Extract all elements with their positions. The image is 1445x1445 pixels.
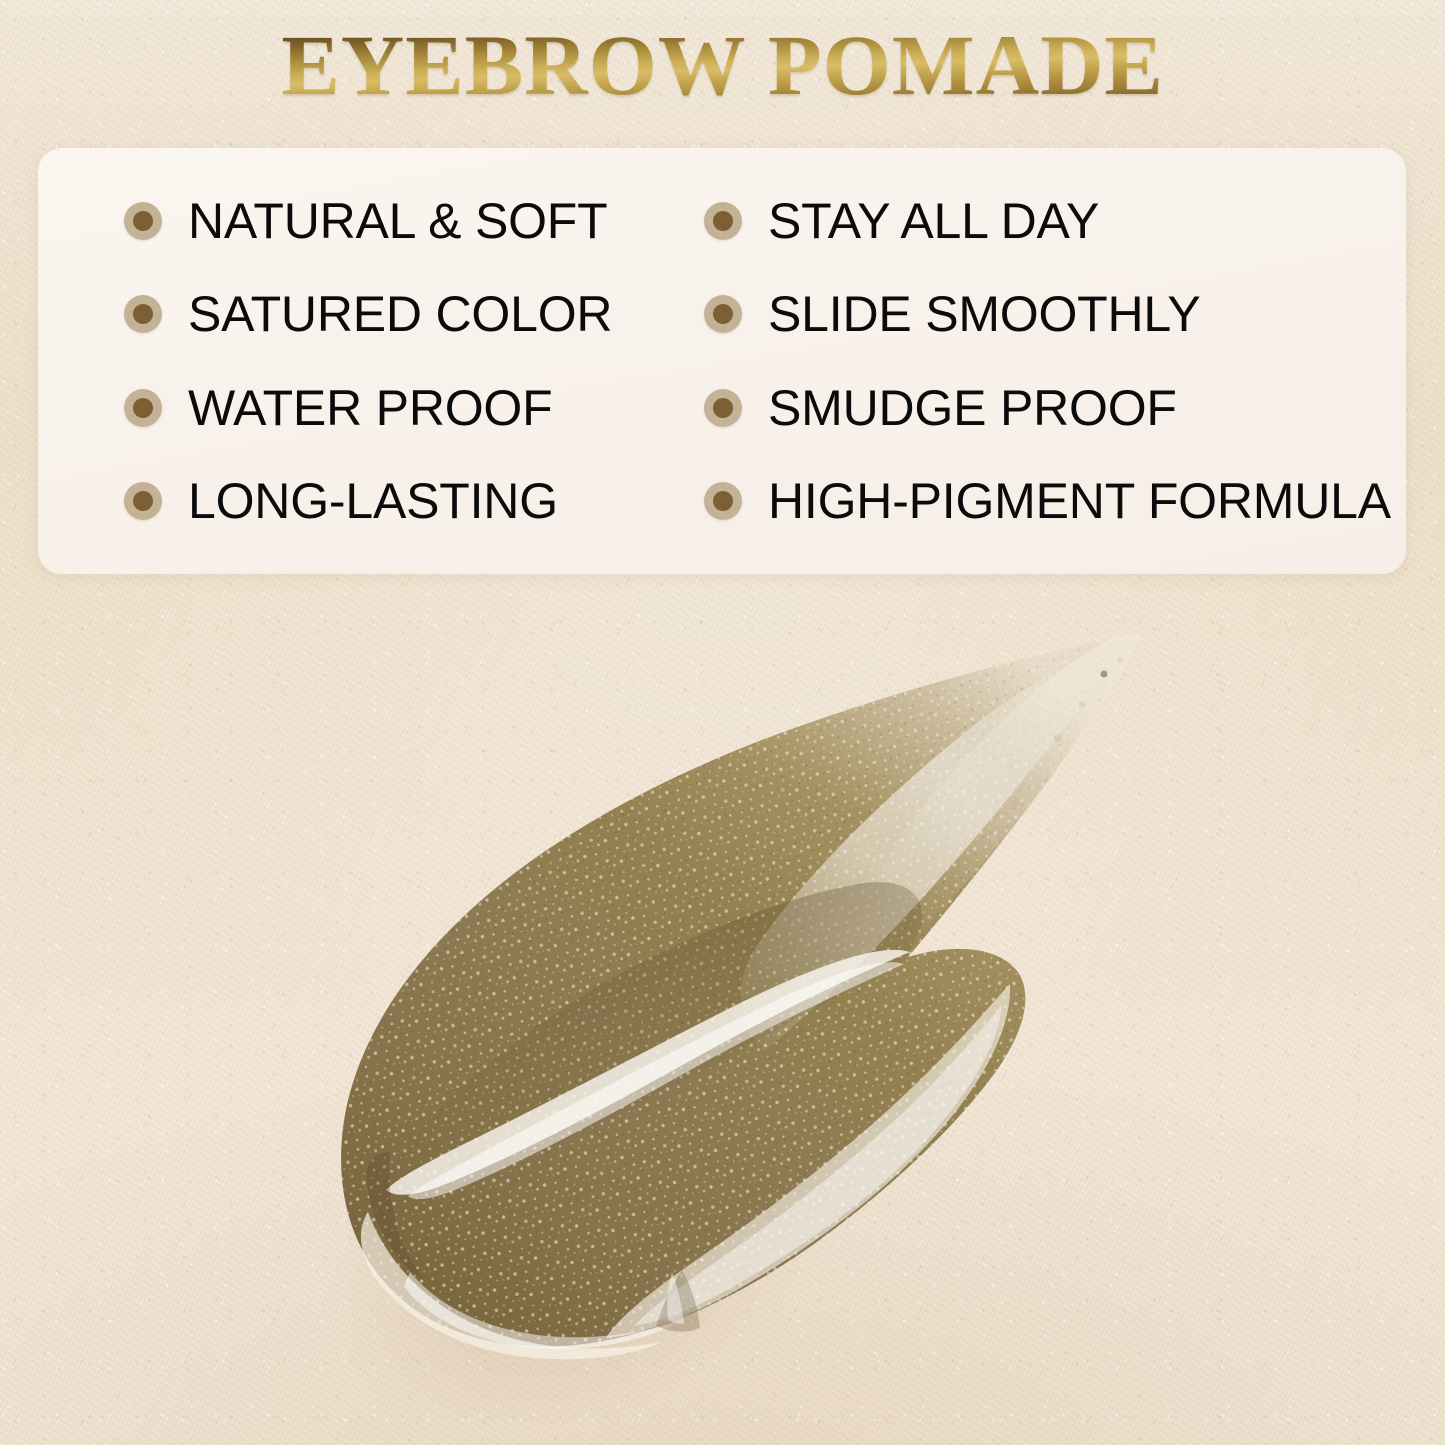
product-swatch-area xyxy=(0,590,1445,1445)
feature-list-card: NATURAL & SOFT STAY ALL DAY SATURED COLO… xyxy=(38,148,1406,574)
title-container: EYEBROW POMADE xyxy=(0,22,1445,108)
feature-item-high-pigment-formula: HIGH-PIGMENT FORMULA xyxy=(704,476,1406,526)
feature-label: SATURED COLOR xyxy=(188,289,612,339)
feature-item-water-proof: WATER PROOF xyxy=(124,383,704,433)
bullet-dot-icon xyxy=(704,389,742,427)
feature-item-slide-smoothly: SLIDE SMOOTHLY xyxy=(704,289,1406,339)
swatch-body-group xyxy=(341,633,1142,1359)
pomade-swatch-smear xyxy=(258,612,1258,1422)
feature-item-long-lasting: LONG-LASTING xyxy=(124,476,704,526)
feature-label: HIGH-PIGMENT FORMULA xyxy=(768,476,1391,526)
feature-grid: NATURAL & SOFT STAY ALL DAY SATURED COLO… xyxy=(38,148,1406,574)
feature-item-stay-all-day: STAY ALL DAY xyxy=(704,196,1406,246)
feature-label: LONG-LASTING xyxy=(188,476,558,526)
feature-label: SMUDGE PROOF xyxy=(768,383,1177,433)
product-feature-graphic: EYEBROW POMADE NATURAL & SOFT STAY ALL D… xyxy=(0,0,1445,1445)
feature-label: WATER PROOF xyxy=(188,383,552,433)
bullet-dot-icon xyxy=(704,202,742,240)
bullet-dot-icon xyxy=(124,202,162,240)
feature-label: NATURAL & SOFT xyxy=(188,196,607,246)
bullet-dot-icon xyxy=(704,295,742,333)
feature-item-satured-color: SATURED COLOR xyxy=(124,289,704,339)
feature-label: STAY ALL DAY xyxy=(768,196,1099,246)
bullet-dot-icon xyxy=(124,295,162,333)
swatch-svg xyxy=(258,612,1258,1422)
bullet-dot-icon xyxy=(124,389,162,427)
feature-item-natural-soft: NATURAL & SOFT xyxy=(124,196,704,246)
bullet-dot-icon xyxy=(124,482,162,520)
page-title: EYEBROW POMADE xyxy=(281,22,1164,108)
feature-label: SLIDE SMOOTHLY xyxy=(768,289,1200,339)
bullet-dot-icon xyxy=(704,482,742,520)
feature-item-smudge-proof: SMUDGE PROOF xyxy=(704,383,1406,433)
